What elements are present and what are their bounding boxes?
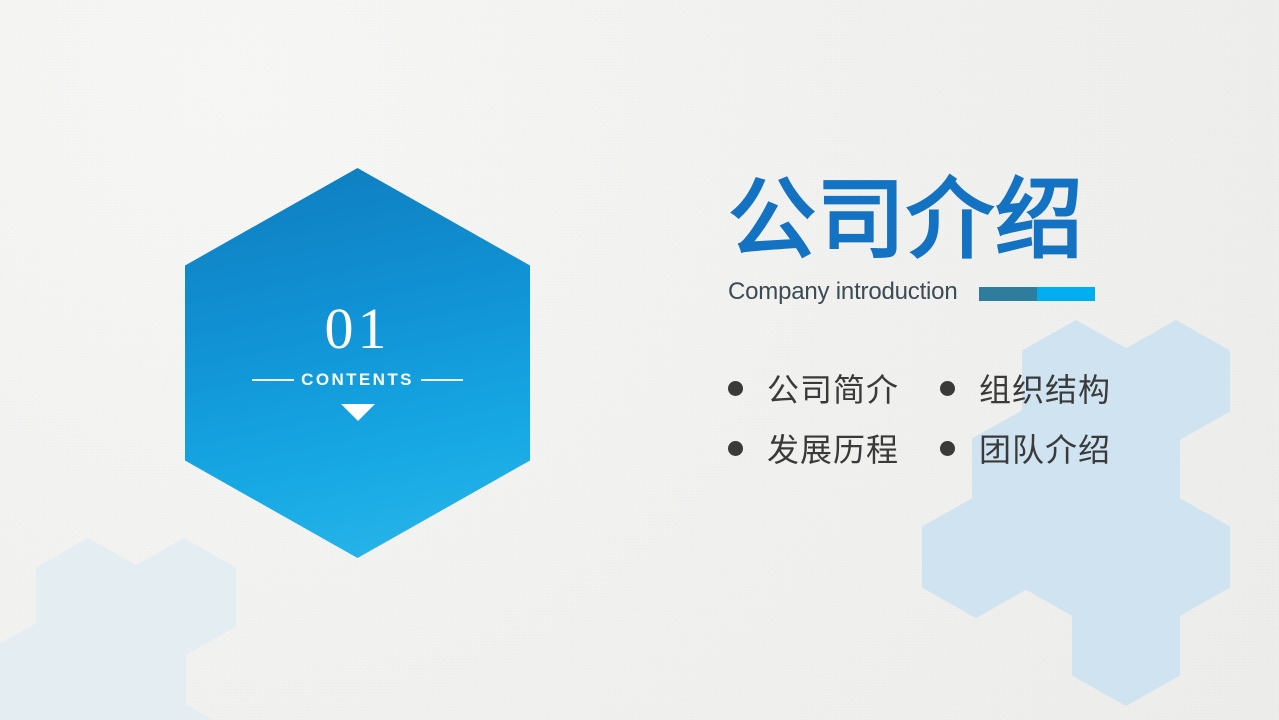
bullet-dot-icon bbox=[940, 381, 955, 396]
subtitle-row: Company introduction bbox=[728, 278, 1208, 306]
page-subtitle: Company introduction bbox=[728, 278, 957, 306]
section-number-hexagon[interactable]: 01 CONTENTS bbox=[185, 168, 530, 558]
page-title: 公司介绍 bbox=[728, 176, 1208, 264]
list-item[interactable]: 公司简介 bbox=[728, 365, 940, 411]
section-number: 01 bbox=[325, 300, 391, 358]
section-number-hexagon-content: 01 CONTENTS bbox=[185, 168, 530, 558]
list-item-label: 组织结构 bbox=[979, 365, 1111, 411]
list-item[interactable]: 团队介绍 bbox=[940, 425, 1152, 471]
kicker-rule-right bbox=[421, 379, 463, 381]
list-item[interactable]: 组织结构 bbox=[940, 365, 1152, 411]
agenda-list: 公司简介 组织结构 发展历程 团队介绍 bbox=[728, 358, 1208, 478]
list-item-label: 公司简介 bbox=[767, 365, 899, 411]
presentation-slide: 01 CONTENTS 公司介绍 Company introduction 公司… bbox=[0, 0, 1279, 720]
accent-bar-segment-dark bbox=[979, 287, 1037, 301]
bullet-dot-icon bbox=[728, 441, 743, 456]
kicker-rule-left bbox=[252, 379, 294, 381]
contents-kicker-label: CONTENTS bbox=[301, 370, 414, 390]
list-item[interactable]: 发展历程 bbox=[728, 425, 940, 471]
bullet-dot-icon bbox=[940, 441, 955, 456]
caret-down-icon bbox=[341, 404, 375, 421]
contents-kicker-row: CONTENTS bbox=[252, 370, 463, 390]
list-item-label: 发展历程 bbox=[767, 425, 899, 471]
accent-bar-segment-bright bbox=[1037, 287, 1095, 301]
bullet-dot-icon bbox=[728, 381, 743, 396]
slide-content-right: 公司介绍 Company introduction 公司简介 组织结构 发展历程 bbox=[728, 176, 1208, 478]
list-item-label: 团队介绍 bbox=[979, 425, 1111, 471]
accent-bar bbox=[979, 287, 1095, 301]
